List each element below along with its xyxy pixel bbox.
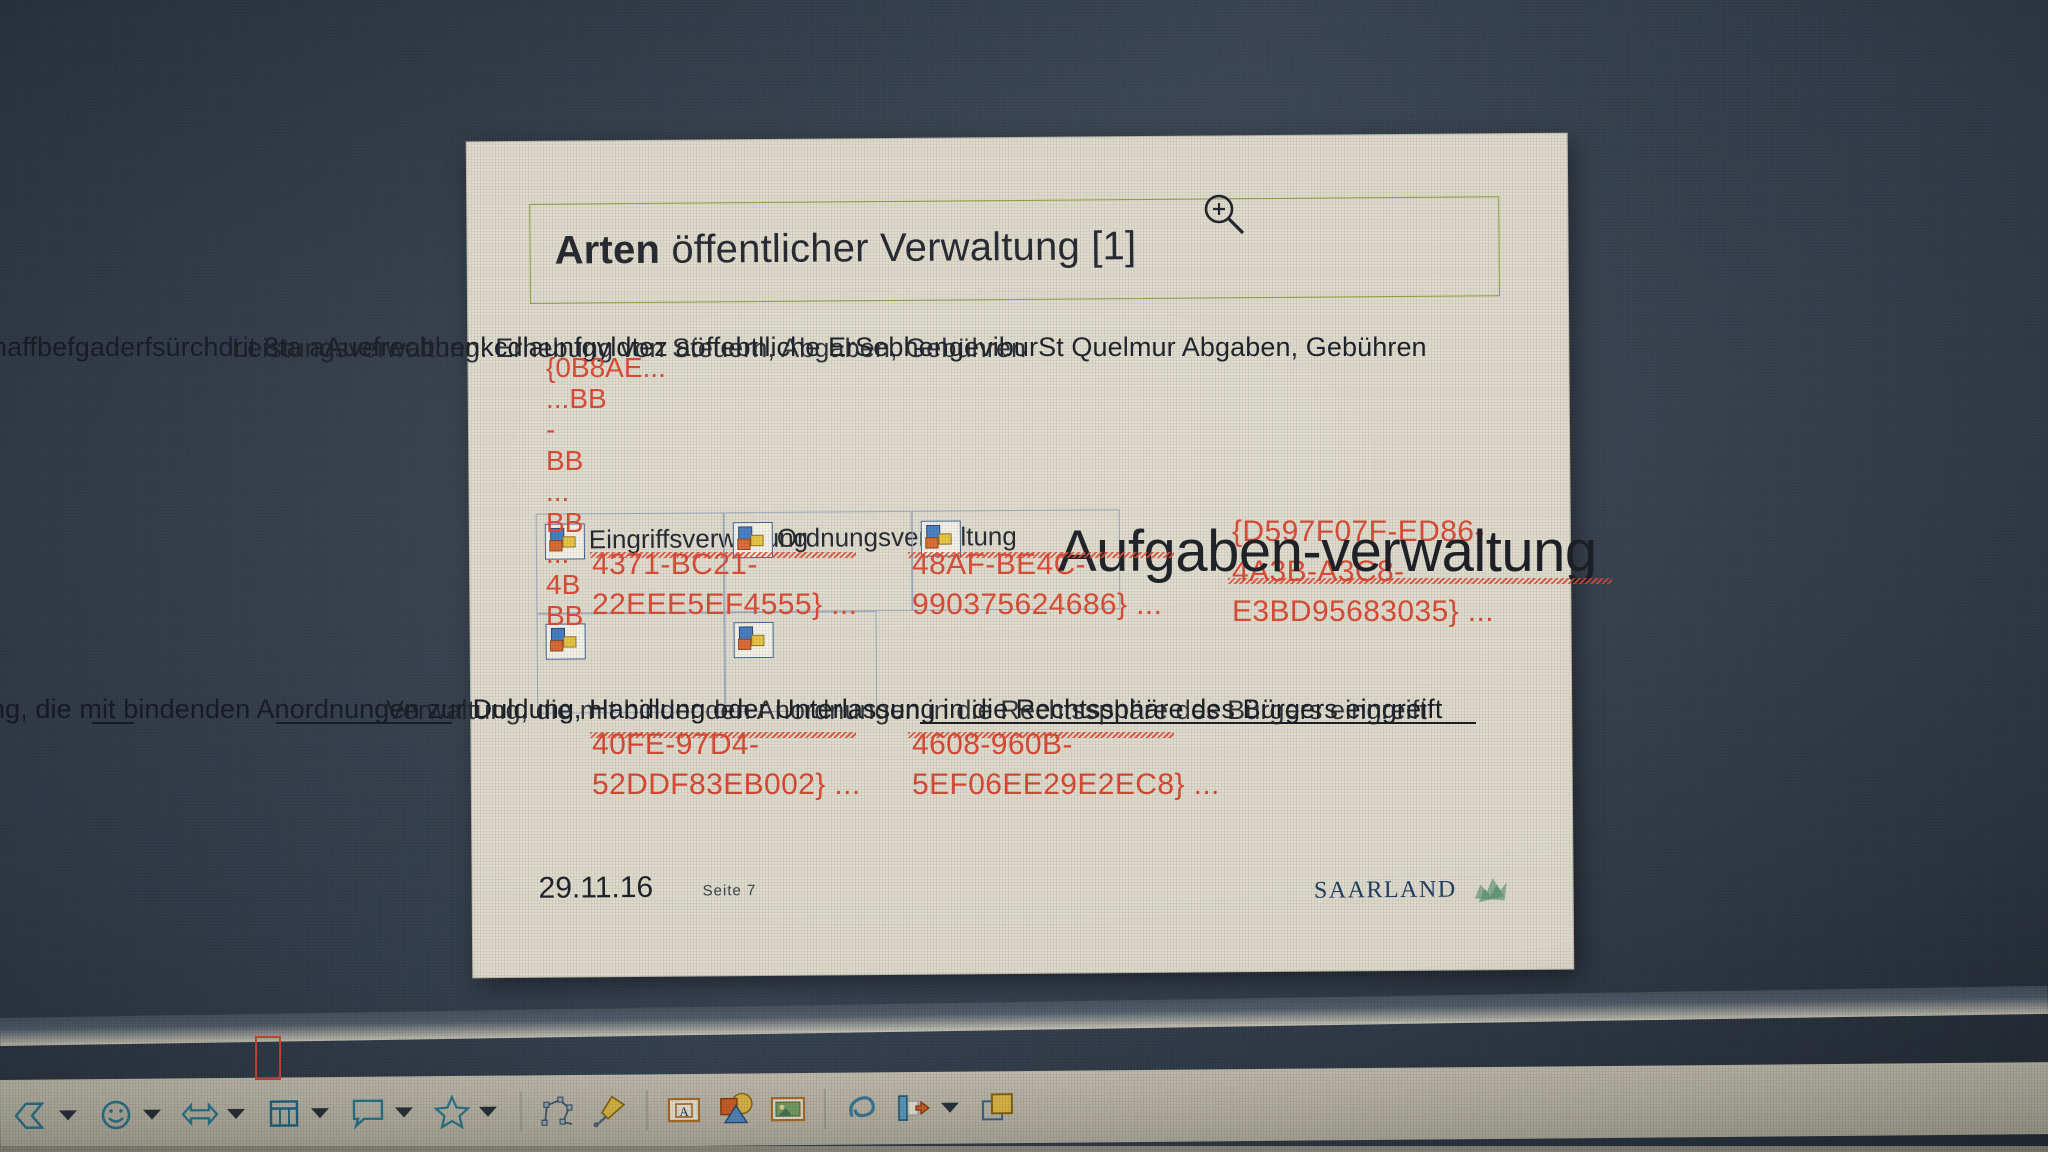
shapes-gallery-icon — [716, 1089, 756, 1129]
chevron-down-icon[interactable] — [59, 1110, 77, 1120]
title-placeholder-frame[interactable]: Arten öffentlicher Verwaltung [1] — [529, 196, 1500, 304]
spellcheck-squiggle-2 — [908, 552, 1174, 558]
underline-rechtssphaere — [920, 722, 1476, 724]
spellcheck-squiggle-3 — [1228, 578, 1612, 584]
underline-mit — [92, 722, 134, 724]
toolbar-item-shapes-gallery[interactable] — [710, 1081, 762, 1137]
chevron-down-icon[interactable] — [227, 1109, 245, 1119]
star-shape-icon — [432, 1092, 472, 1132]
toolbar-item-star[interactable] — [426, 1084, 510, 1141]
toolbar-item-points-curve[interactable] — [532, 1083, 584, 1139]
page-title-bold: Arten — [554, 228, 660, 273]
page-title: Arten öffentlicher Verwaltung [1] — [554, 224, 1136, 274]
chevron-down-icon[interactable] — [143, 1110, 161, 1120]
screen-bottom-edge — [0, 1146, 2048, 1152]
toolbar-item-glue-points[interactable] — [584, 1082, 636, 1138]
chevron-down-icon[interactable] — [395, 1107, 413, 1117]
text-box-icon: A — [664, 1090, 704, 1130]
arrange-shapes-icon — [978, 1087, 1018, 1127]
chevron-down-icon[interactable] — [479, 1107, 497, 1117]
toolbar-item-fontwork[interactable] — [836, 1080, 888, 1136]
toolbar-item-insert-image[interactable] — [762, 1081, 814, 1137]
toolbar-separator — [646, 1090, 648, 1130]
points-curve-icon — [538, 1091, 578, 1131]
footer-date: 29.11.16 — [538, 871, 653, 906]
drawing-toolbar[interactable]: A — [0, 1062, 2048, 1152]
saarland-logo: SAARLAND — [1314, 872, 1511, 908]
toolbar-item-smiley[interactable] — [90, 1086, 174, 1143]
toolbar-item-text-box[interactable]: A — [658, 1082, 710, 1138]
zoom-in-cursor-icon — [1200, 190, 1248, 238]
splitter-handle[interactable]: ||| — [1038, 1044, 1057, 1064]
flowchart-icon — [264, 1093, 304, 1133]
spellcheck-squiggle-4 — [590, 732, 856, 738]
toolbar-separator — [520, 1091, 522, 1131]
toolbar-item-arrange-shapes[interactable] — [972, 1079, 1024, 1135]
basic-shapes-icon — [12, 1096, 52, 1136]
toolbar-item-basic-shapes[interactable] — [6, 1087, 90, 1144]
footer-page-number: Seite 7 — [703, 882, 757, 899]
object-shapes-icon — [734, 622, 774, 658]
spellcheck-squiggle-5 — [908, 732, 1174, 738]
logo-wordmark: SAARLAND — [1314, 876, 1457, 904]
insert-image-icon — [768, 1089, 808, 1129]
toolbar-item-flowchart[interactable] — [258, 1085, 342, 1142]
guid-left-column: {0B8AE... ...BB - BB ... BB ... 4B BB — [546, 352, 580, 631]
saarland-crest-icon — [1467, 872, 1511, 906]
page-title-rest: öffentlicher Verwaltung [1] — [660, 224, 1137, 272]
fontwork-icon — [842, 1088, 882, 1128]
callout-icon — [348, 1093, 388, 1133]
spellcheck-squiggle-1 — [590, 552, 856, 558]
toolbar-separator — [824, 1089, 826, 1129]
smiley-face-icon — [96, 1095, 136, 1135]
scrollbar-thumb[interactable] — [255, 1036, 281, 1080]
chevron-down-icon[interactable] — [941, 1103, 959, 1113]
block-arrow-icon — [180, 1094, 220, 1134]
svg-text:A: A — [679, 1104, 689, 1119]
underline-anordnungen — [276, 722, 452, 724]
monitor-photo: Arten öffentlicher Verwaltung [1] Eingri… — [0, 0, 2048, 1152]
glue-points-icon — [590, 1091, 630, 1131]
toolbar-item-insert-object[interactable] — [888, 1080, 972, 1137]
toolbar-item-block-arrow[interactable] — [174, 1086, 258, 1143]
insert-object-icon — [894, 1088, 934, 1128]
toolbar-item-callout[interactable] — [342, 1084, 426, 1141]
chevron-down-icon[interactable] — [311, 1108, 329, 1118]
